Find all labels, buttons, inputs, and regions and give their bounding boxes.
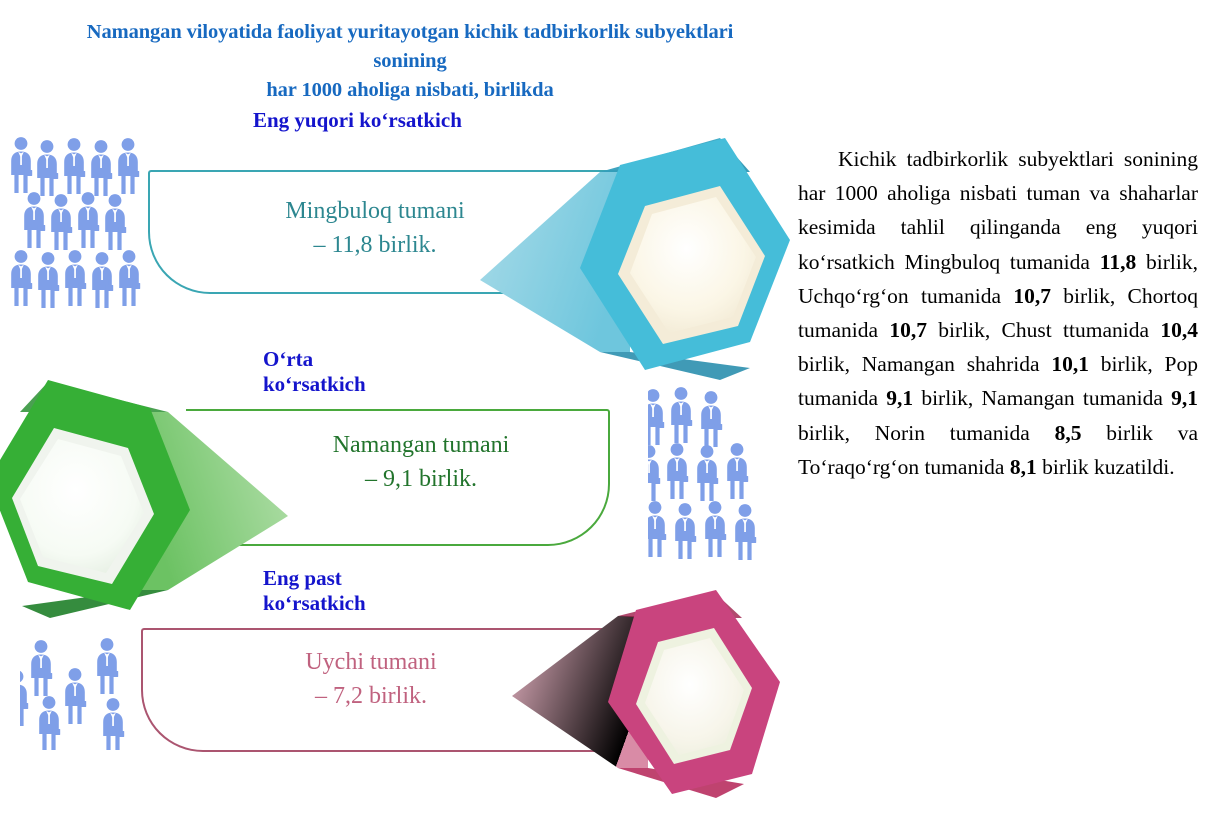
people-group-middle xyxy=(648,385,788,565)
body-value-5: 10,1 xyxy=(1051,352,1089,376)
page-title-line-2: har 1000 aholiga nisbati, birlikda xyxy=(60,76,760,105)
body-text-part-8: birlik, Norin tumanida xyxy=(798,421,1055,445)
body-value-9: 8,1 xyxy=(1010,455,1037,479)
body-text-part-5: birlik, Namangan shahrida xyxy=(798,352,1051,376)
body-value-4: 10,4 xyxy=(1160,318,1198,342)
body-value-1: 11,8 xyxy=(1100,250,1136,274)
people-group-highest xyxy=(8,134,160,319)
body-value-8: 8,5 xyxy=(1055,421,1082,445)
section-heading-lowest: Eng past ko‘rsatkich xyxy=(263,566,366,616)
body-value-7: 9,1 xyxy=(1171,386,1198,410)
body-text-part-7: birlik, Namangan tumanida xyxy=(913,386,1171,410)
body-value-6: 9,1 xyxy=(886,386,913,410)
body-text-part-4: birlik, Chust ttumanida xyxy=(927,318,1160,342)
body-text-part-10: birlik kuzatildi. xyxy=(1037,455,1175,479)
body-value-2: 10,7 xyxy=(1013,284,1051,308)
hexagon-prism-lowest xyxy=(500,578,820,819)
hexagon-prism-highest xyxy=(420,120,790,392)
body-value-3: 10,7 xyxy=(889,318,927,342)
page-title-line-1: Namangan viloyatida faoliyat yuritayotga… xyxy=(60,18,760,76)
body-paragraph: Kichik tadbirkorlik subyektlari sonining… xyxy=(798,142,1198,484)
page-title: Namangan viloyatida faoliyat yuritayotga… xyxy=(60,18,760,105)
people-group-lowest xyxy=(20,614,145,750)
